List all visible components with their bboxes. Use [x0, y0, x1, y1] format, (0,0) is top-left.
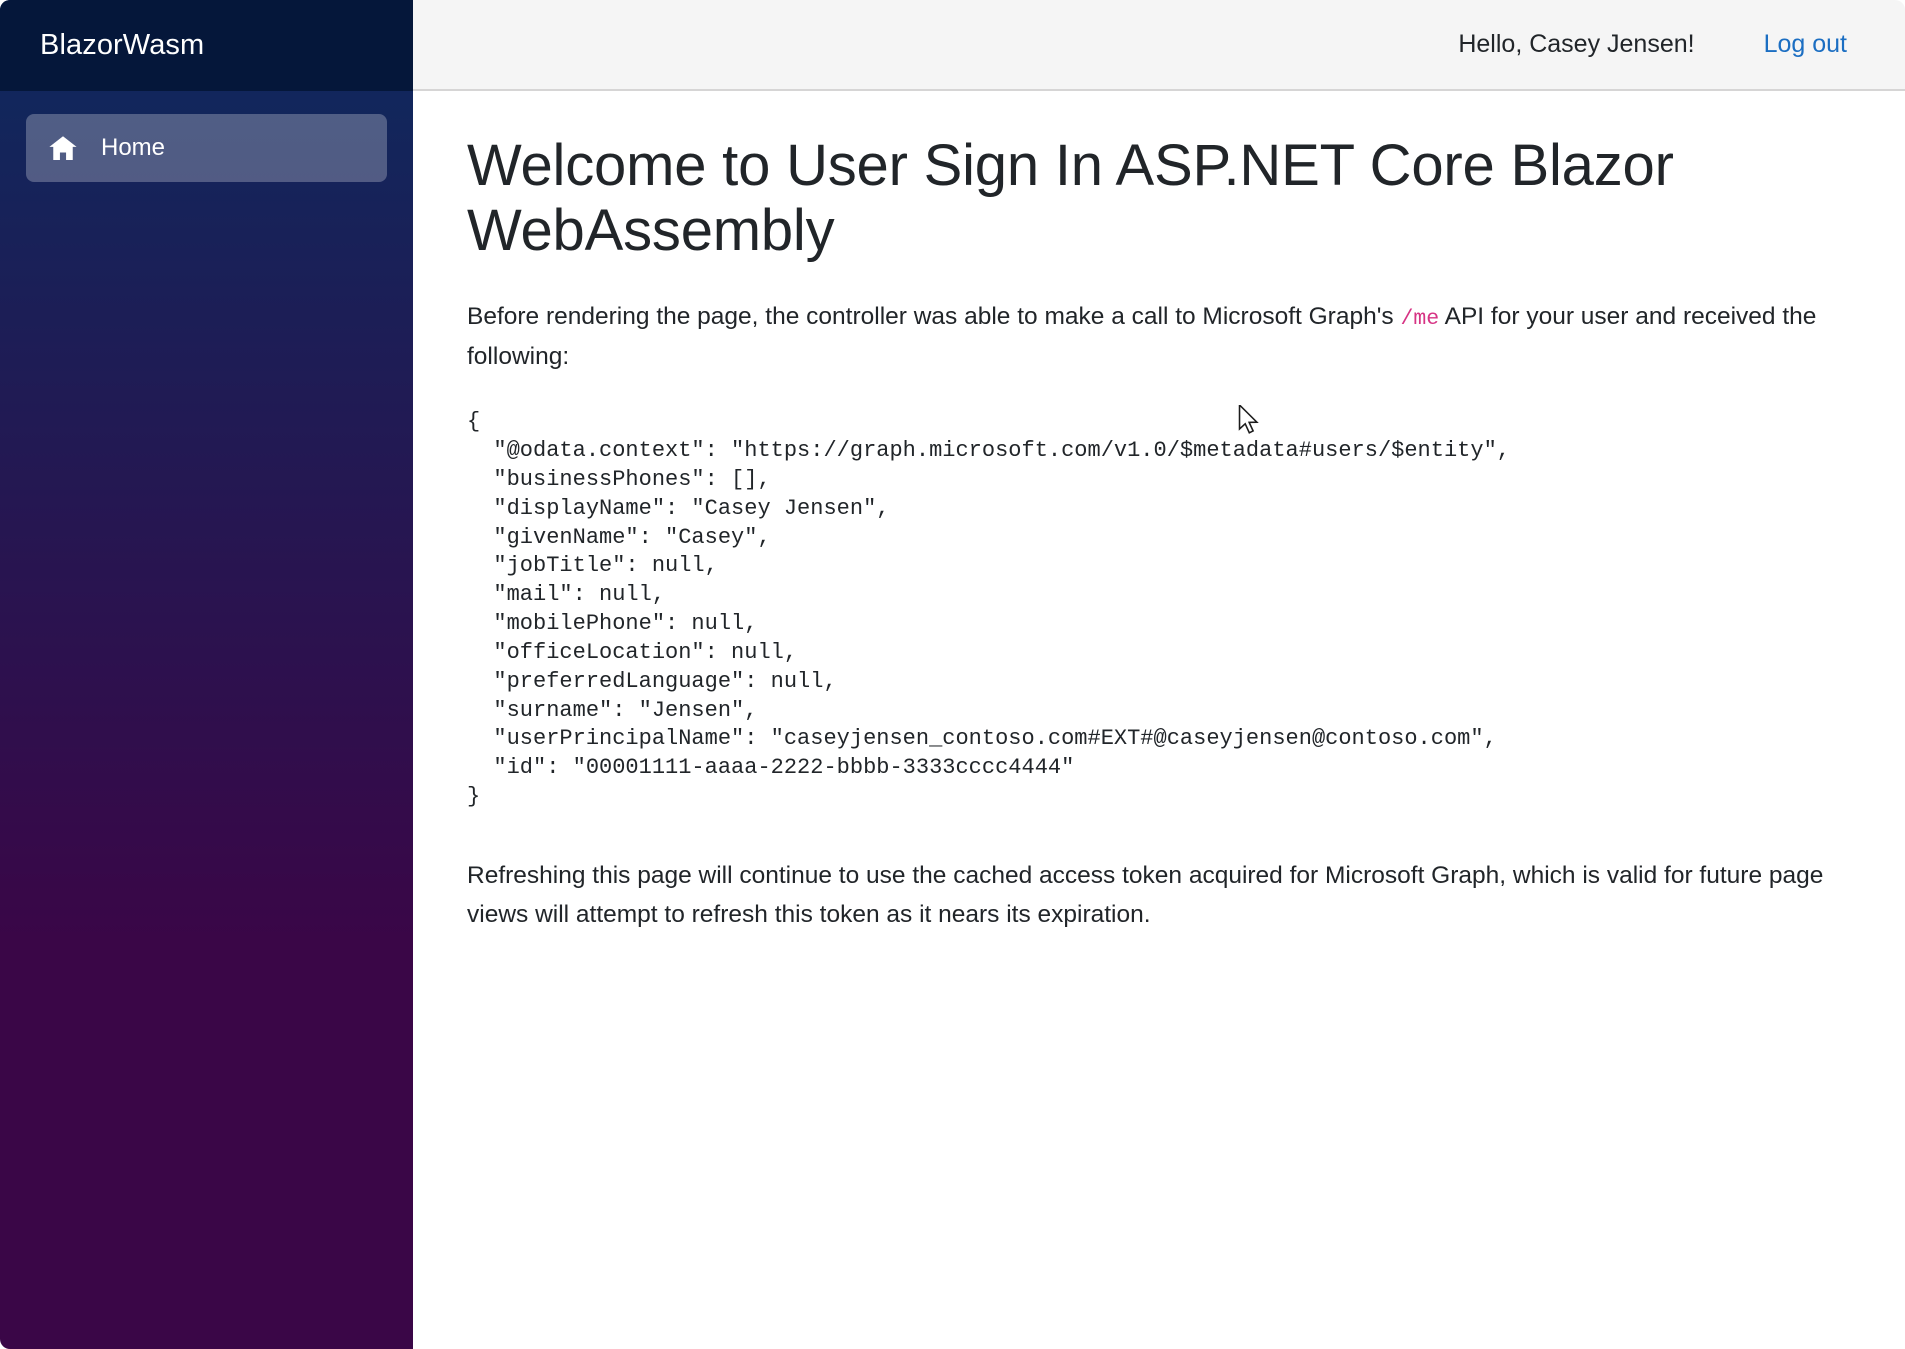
sidebar-item-home[interactable]: Home	[26, 114, 387, 182]
brand-title[interactable]: BlazorWasm	[40, 31, 204, 60]
page-title: Welcome to User Sign In ASP.NET Core Bla…	[467, 134, 1851, 264]
home-icon	[46, 131, 80, 165]
intro-text-before-code: Before rendering the page, the controlle…	[467, 303, 1400, 330]
intro-paragraph: Before rendering the page, the controlle…	[467, 297, 1851, 377]
sidebar-nav-list: Home	[0, 91, 413, 182]
footer-paragraph: Refreshing this page will continue to us…	[467, 856, 1851, 935]
app-window: BlazorWasm Home Hello, Casey Jensen! Log…	[0, 0, 1905, 1349]
top-row: Hello, Casey Jensen! Log out	[413, 0, 1905, 91]
user-greeting: Hello, Casey Jensen!	[1458, 32, 1694, 57]
log-out-button[interactable]: Log out	[1764, 32, 1847, 57]
sidebar-brand-bar: BlazorWasm	[0, 0, 413, 91]
graph-json-response: { "@odata.context": "https://graph.micro…	[467, 408, 1851, 811]
me-endpoint-code: /me	[1400, 307, 1439, 331]
sidebar: BlazorWasm Home	[0, 0, 413, 1349]
sidebar-item-label-home: Home	[101, 136, 165, 160]
main-column: Hello, Casey Jensen! Log out Welcome to …	[413, 0, 1905, 1349]
content-area: Welcome to User Sign In ASP.NET Core Bla…	[413, 91, 1905, 1349]
